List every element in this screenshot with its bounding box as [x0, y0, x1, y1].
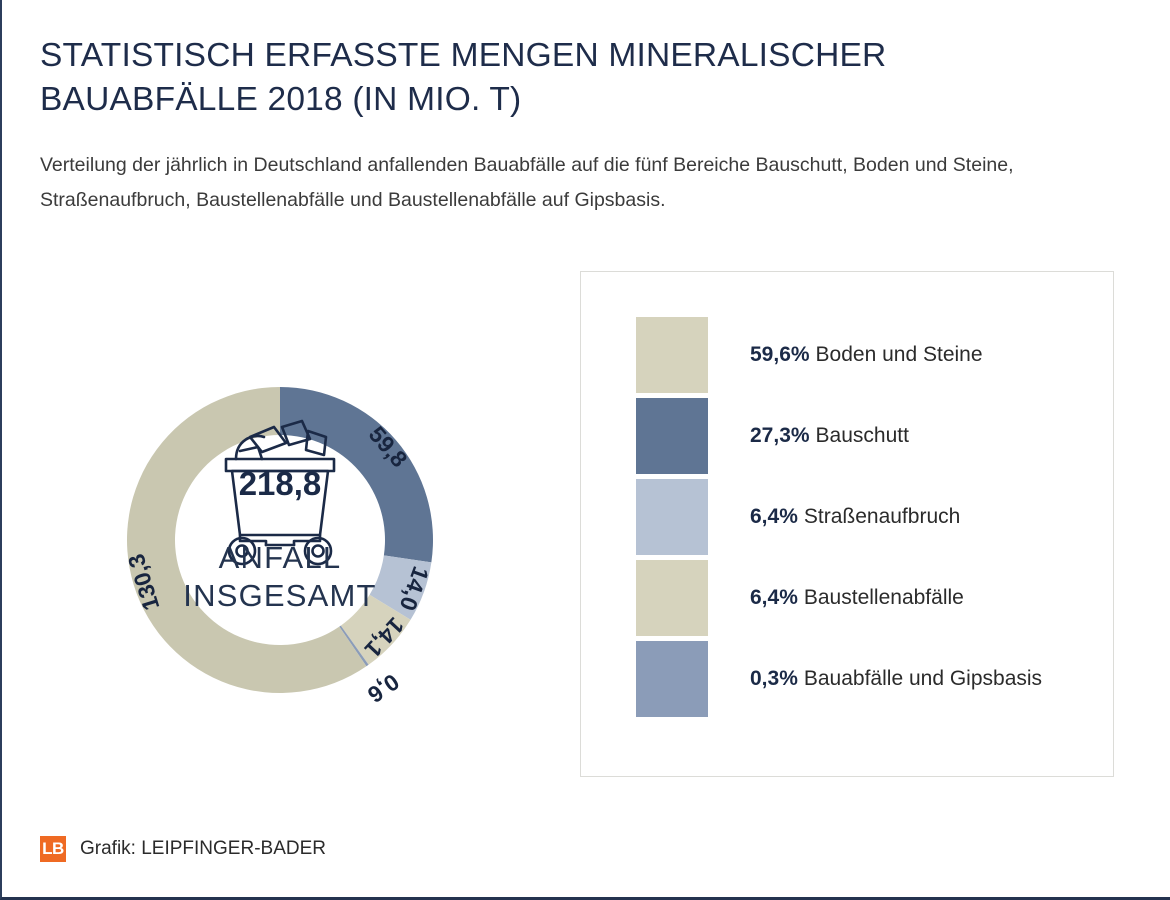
leipfinger-bader-logo-icon: LB: [40, 836, 66, 862]
legend-label: 0,3%Bauabfälle und Gipsbasis: [750, 667, 1042, 691]
legend-list: 59,6%Boden und Steine27,3%Bauschutt6,4%S…: [636, 314, 1095, 719]
infographic-page: STATISTISCH ERFASSTE MENGEN MINERALISCHE…: [0, 0, 1170, 900]
header: STATISTISCH ERFASSTE MENGEN MINERALISCHE…: [40, 34, 1130, 218]
legend-percent: 6,4%: [750, 505, 798, 528]
page-title: STATISTISCH ERFASSTE MENGEN MINERALISCHE…: [40, 34, 980, 122]
credit-text: Grafik: LEIPFINGER-BADER: [80, 838, 326, 860]
legend-item: 6,4%Straßenaufbruch: [636, 476, 1095, 557]
legend-item: 59,6%Boden und Steine: [636, 314, 1095, 395]
legend-percent: 0,3%: [750, 667, 798, 690]
legend-item: 6,4%Baustellenabfälle: [636, 557, 1095, 638]
legend-label: 59,6%Boden und Steine: [750, 343, 983, 367]
legend-percent: 59,6%: [750, 343, 810, 366]
legend-label: 27,3%Bauschutt: [750, 424, 909, 448]
legend-item: 27,3%Bauschutt: [636, 395, 1095, 476]
legend-percent: 6,4%: [750, 586, 798, 609]
legend-swatch: [636, 398, 708, 474]
legend-item: 0,3%Bauabfälle und Gipsbasis: [636, 638, 1095, 719]
legend-label: 6,4%Straßenaufbruch: [750, 505, 960, 529]
page-subtitle: Verteilung der jährlich in Deutschland a…: [40, 148, 1115, 218]
legend-box: 59,6%Boden und Steine27,3%Bauschutt6,4%S…: [580, 271, 1114, 777]
donut-chart: 218,8 ANFALL INSGESAMT 59,814,014,10,613…: [40, 268, 540, 788]
legend-swatch: [636, 479, 708, 555]
legend-category-name: Bauabfälle und Gipsbasis: [804, 667, 1042, 690]
legend-swatch: [636, 641, 708, 717]
legend-category-name: Boden und Steine: [816, 343, 983, 366]
legend-category-name: Bauschutt: [816, 424, 909, 447]
legend-category-name: Straßenaufbruch: [804, 505, 960, 528]
legend-swatch: [636, 317, 708, 393]
legend-percent: 27,3%: [750, 424, 810, 447]
center-caption-line1: ANFALL: [219, 540, 342, 575]
center-total-value: 218,8: [239, 465, 322, 502]
donut-chart-svg: 218,8 ANFALL INSGESAMT 59,814,014,10,613…: [40, 268, 540, 788]
donut-segment-value-label: 0,6: [363, 669, 404, 709]
center-caption-line2: INSGESAMT: [183, 578, 376, 613]
legend-swatch: [636, 560, 708, 636]
legend-category-name: Baustellenabfälle: [804, 586, 964, 609]
footer: LB Grafik: LEIPFINGER-BADER: [40, 836, 326, 862]
legend-label: 6,4%Baustellenabfälle: [750, 586, 964, 610]
